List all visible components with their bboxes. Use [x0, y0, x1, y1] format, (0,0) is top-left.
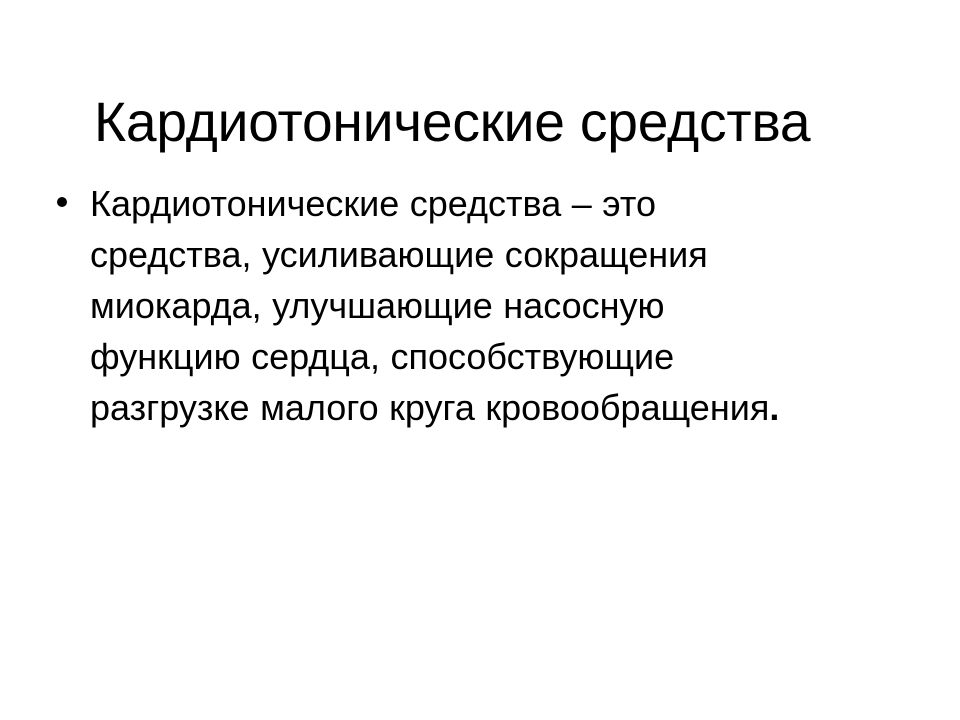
- list-item: Кардиотонические средства – это средства…: [48, 178, 838, 433]
- slide-empty-region: [0, 500, 960, 720]
- list-item-label: Кардиотонические средства – это средства…: [90, 178, 802, 433]
- presentation-slide: Кардиотонические средства Кардиотоническ…: [0, 0, 960, 720]
- list-item-terminal-period: .: [769, 387, 779, 428]
- page-title: Кардиотонические средства: [94, 90, 872, 154]
- list-item-text: Кардиотонические средства – это средства…: [90, 183, 769, 428]
- bullet-dot-icon: [57, 197, 67, 207]
- slide-body-content: Кардиотонические средства – это средства…: [48, 178, 838, 433]
